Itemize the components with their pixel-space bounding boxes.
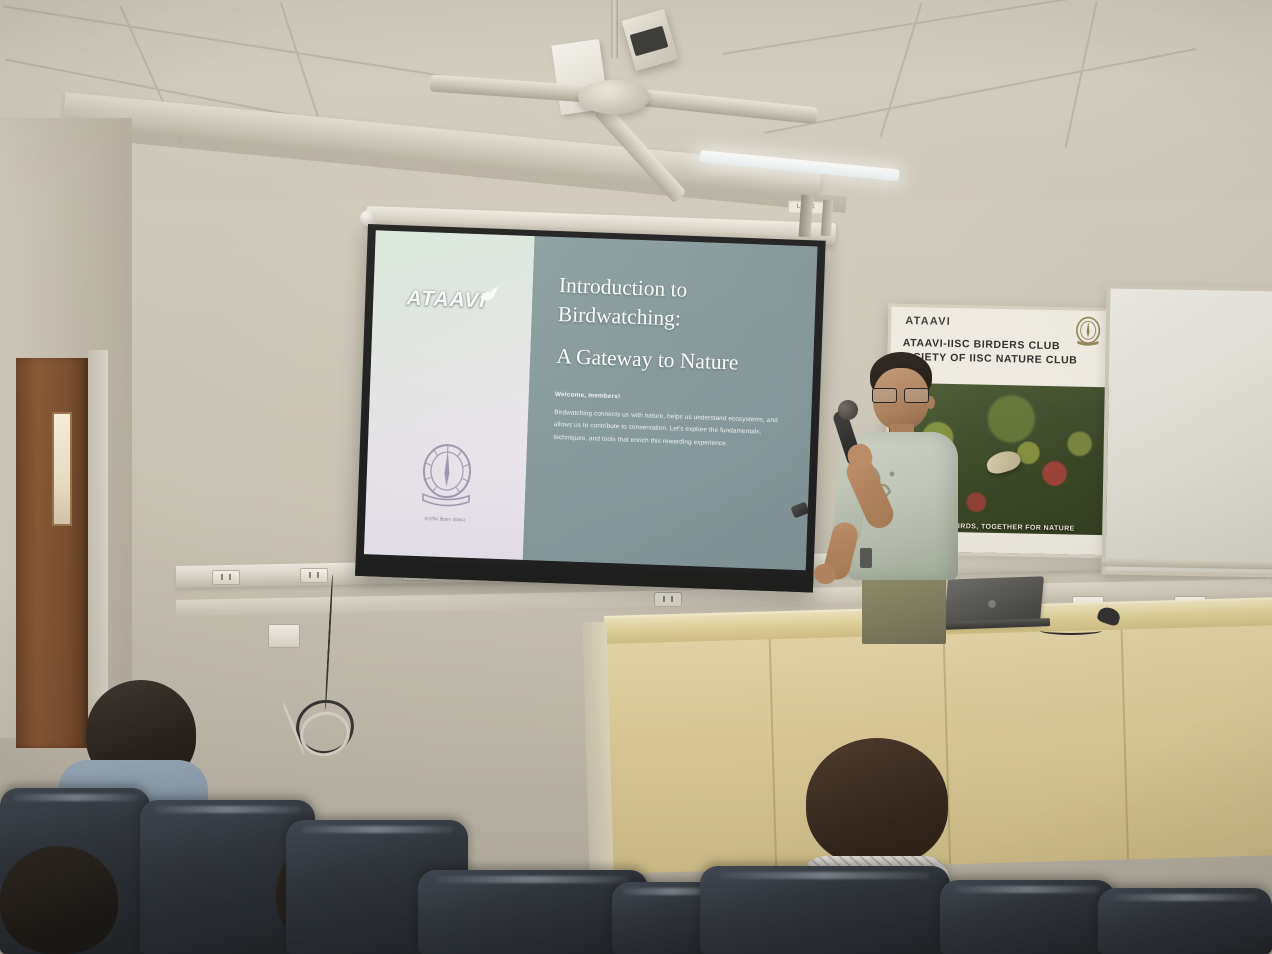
ataavi-logo: ATAAVI <box>373 282 533 318</box>
poster-bird-image <box>984 448 1022 477</box>
door-glass-panel <box>52 412 72 526</box>
iisc-emblem-caption: भारतीय विज्ञान संस्थान <box>424 516 465 524</box>
iisc-emblem-icon <box>1073 315 1104 350</box>
power-socket[interactable] <box>212 570 240 585</box>
slide-welcome-text: Welcome, members! <box>555 391 792 407</box>
presenter-pocket <box>860 548 872 568</box>
audience-member <box>806 738 948 866</box>
poster-brand: ATAAVI <box>905 315 951 328</box>
auditorium-seat[interactable] <box>940 880 1115 954</box>
presentation-slide: ATAAVI <box>364 230 818 570</box>
eyeglasses-icon <box>872 388 930 401</box>
slide-body-text: Birdwatching connects us with nature, he… <box>553 407 791 453</box>
iisc-emblem-icon <box>414 440 479 512</box>
whiteboard[interactable] <box>1101 284 1272 577</box>
projector-screen: ATAAVI <box>355 224 826 593</box>
ataavi-wordmark: ATAAVI <box>406 286 486 313</box>
power-socket-box[interactable] <box>268 624 300 648</box>
auditorium-seat[interactable] <box>1098 888 1272 954</box>
poster-line-1: ATAAVI-IISC BIRDERS CLUB <box>903 337 1061 352</box>
bird-icon <box>479 286 500 308</box>
audience-member <box>0 846 118 954</box>
auditorium-seat[interactable] <box>700 866 950 954</box>
slide-subtitle: A Gateway to Nature <box>556 342 794 379</box>
slide-right-panel: Introduction to Birdwatching: A Gateway … <box>523 236 818 570</box>
ceiling-fan-icon <box>578 80 650 114</box>
lecture-hall-photo: ATAAVI ATAAVI-IISC BIRDERS CLUB SOCIETY … <box>0 0 1272 954</box>
presenter-trousers <box>862 572 946 644</box>
power-socket[interactable] <box>300 568 328 583</box>
microphone-cable <box>1040 626 1102 635</box>
slide-left-panel: ATAAVI <box>364 230 535 560</box>
presenter <box>818 352 988 642</box>
door-jamb <box>88 350 108 750</box>
power-socket[interactable] <box>654 592 682 607</box>
fan-rod <box>611 0 618 58</box>
